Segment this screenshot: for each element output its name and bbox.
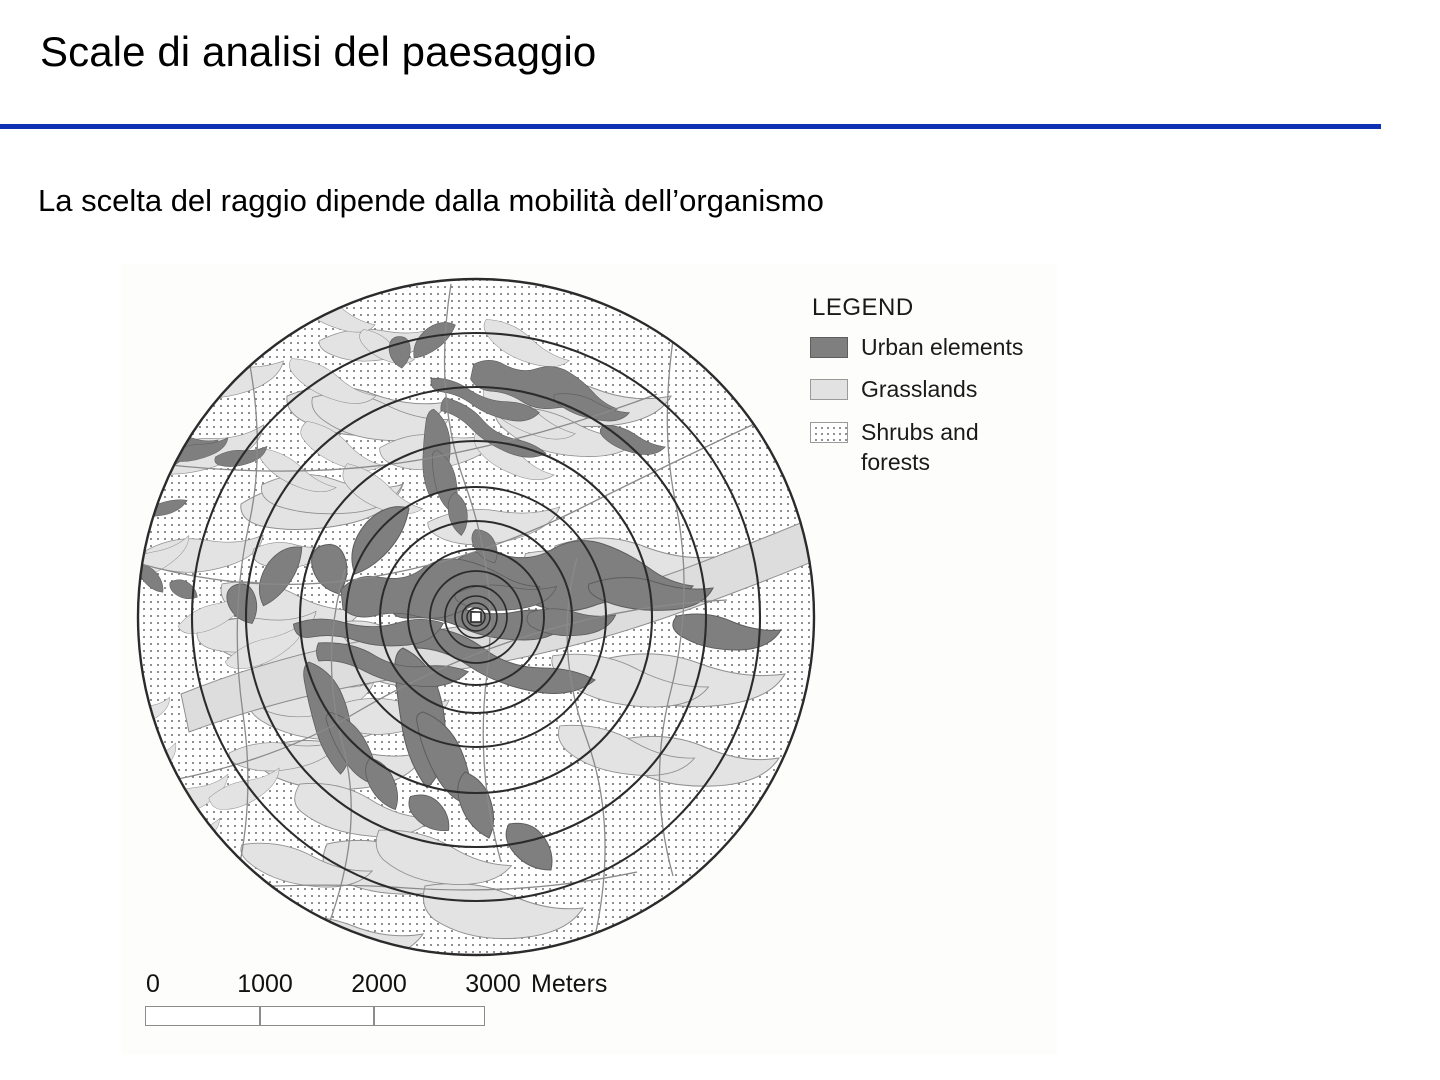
scale-bar-divider [373,1007,375,1025]
figure-panel: LEGEND Urban elements Grasslands Shrubs … [121,264,1057,1055]
scale-tick-2: 2000 [351,970,407,999]
map-center-marker [471,612,481,622]
page-title: Scale di analisi del paesaggio [40,28,596,76]
scale-bar-track [145,1006,485,1026]
legend-item-urban: Urban elements [810,332,1050,362]
legend-item-shrubs: Shrubs and forests [810,417,1050,478]
scale-bar-divider [259,1007,261,1025]
map-svg [121,264,821,964]
scale-tick-1: 1000 [237,970,293,999]
legend-label-shrubs: Shrubs and forests [861,417,1026,478]
scale-unit-label: Meters [531,970,607,999]
shrubs-and-forests-swatch-icon [810,422,848,443]
map-scale-bar: 0 1000 2000 3000 Meters [145,970,665,1026]
urban-elements-swatch-icon [810,337,848,358]
scale-tick-3: 3000 [465,970,521,999]
legend-label-grasslands: Grasslands [861,374,977,404]
body-paragraph: La scelta del raggio dipende dalla mobil… [38,182,824,221]
map-legend: LEGEND Urban elements Grasslands Shrubs … [810,294,1050,489]
legend-heading: LEGEND [812,294,1050,322]
legend-item-grasslands: Grasslands [810,374,1050,404]
title-divider [0,124,1381,129]
circular-landcover-map [121,264,821,964]
scale-bar-ticks: 0 1000 2000 3000 Meters [145,970,665,1004]
scale-tick-0: 0 [146,970,160,999]
legend-label-urban: Urban elements [861,332,1023,362]
grasslands-swatch-icon [810,379,848,400]
